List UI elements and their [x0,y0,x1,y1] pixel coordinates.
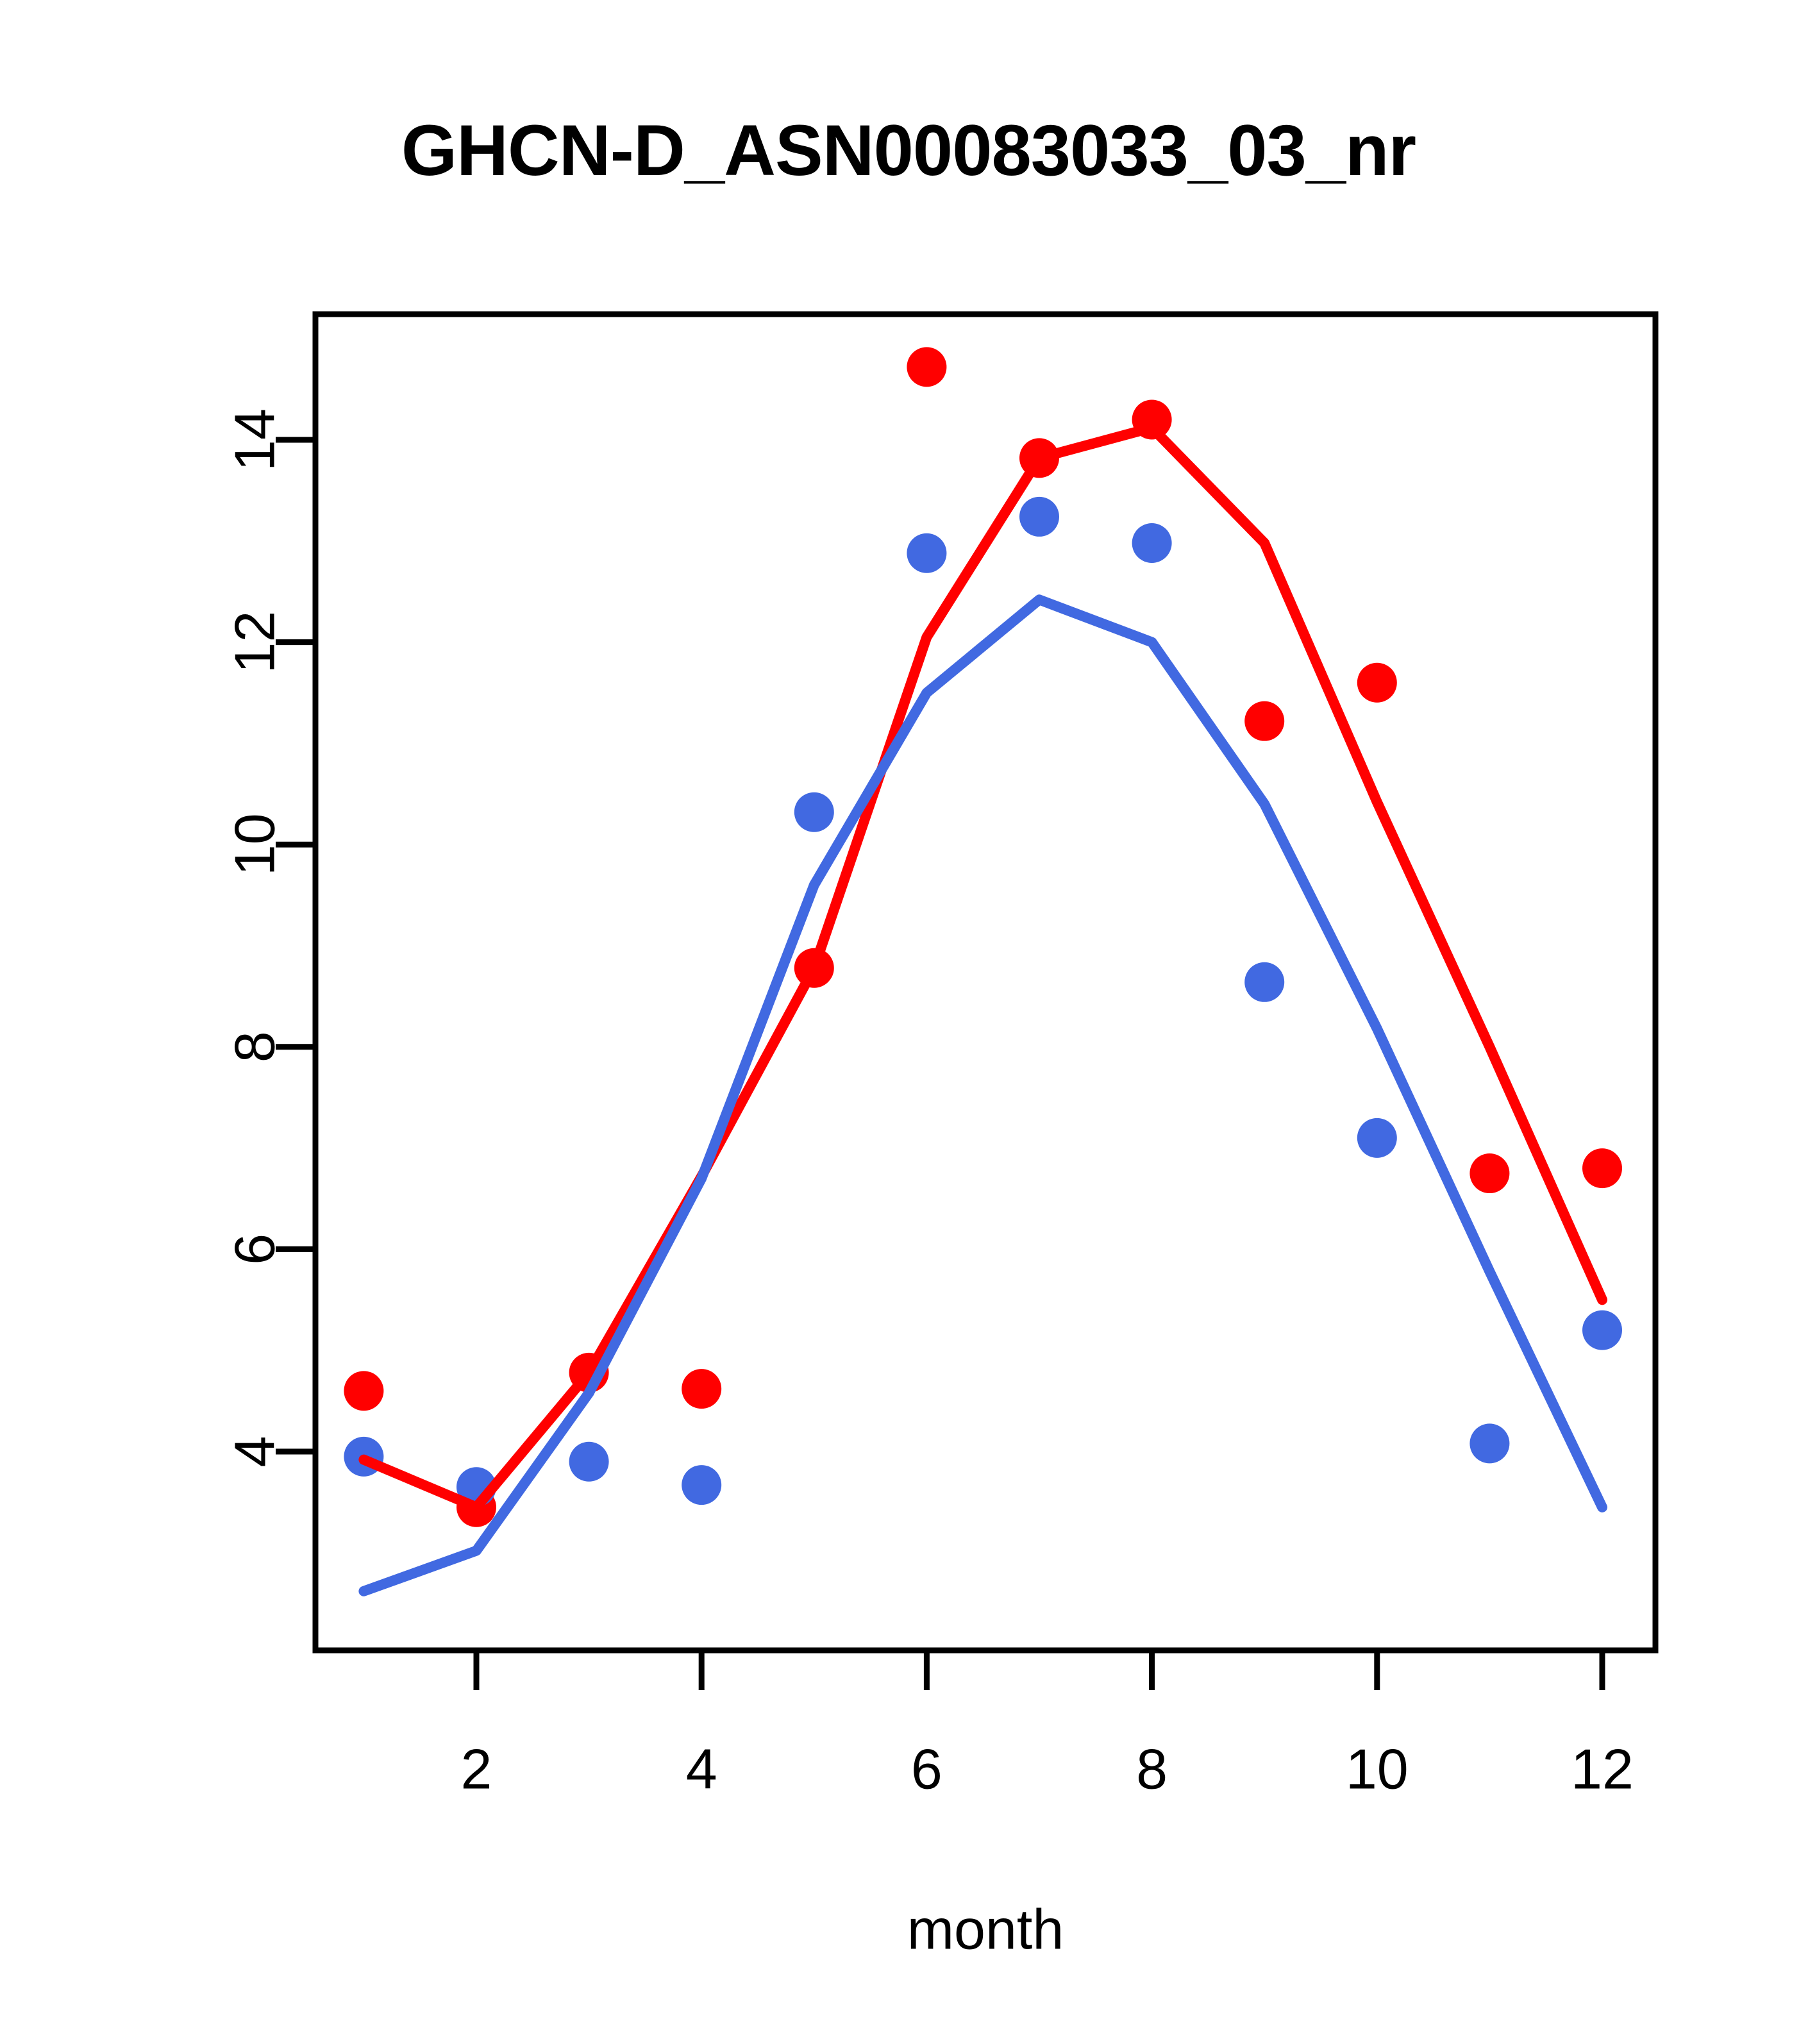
data-point-blue-points [1582,1311,1622,1350]
series-line-blue-line [364,599,1602,1591]
data-point-blue-points [569,1442,609,1482]
data-point-blue-points [1019,497,1059,537]
y-tick-label: 6 [223,1234,287,1265]
data-series [344,347,1622,1591]
y-tick-label: 14 [223,408,287,471]
series-line-red-line [364,428,1602,1507]
data-point-blue-points [794,792,834,832]
data-point-red-points [1470,1153,1509,1193]
x-tick-label: 6 [911,1738,942,1801]
x-axis-title: month [907,1898,1064,1961]
x-tick-label: 10 [1346,1738,1409,1801]
data-point-red-points [1357,663,1397,703]
data-point-blue-points [907,533,946,573]
data-point-blue-points [682,1465,721,1505]
x-tick-label: 8 [1136,1738,1168,1801]
data-point-red-points [682,1369,721,1409]
data-point-red-points [1244,701,1284,741]
data-point-blue-points [1357,1118,1397,1158]
data-point-blue-points [1470,1423,1509,1463]
data-point-red-points [907,347,946,387]
y-tick-label: 12 [223,611,287,674]
plot-area: 46810121424681012month [0,0,1817,2044]
x-tick-label: 12 [1571,1738,1634,1801]
y-tick-label: 4 [223,1436,287,1468]
y-tick-label: 8 [223,1031,287,1062]
chart-page: GHCN-D_ASN00083033_03_nr 468101214246810… [0,0,1817,2044]
y-tick-label: 10 [223,813,287,876]
data-point-red-points [1582,1148,1622,1188]
data-point-blue-points [1244,962,1284,1002]
data-point-red-points [344,1371,383,1411]
data-point-blue-points [1132,523,1172,563]
x-tick-label: 2 [461,1738,492,1801]
x-tick-label: 4 [686,1738,717,1801]
